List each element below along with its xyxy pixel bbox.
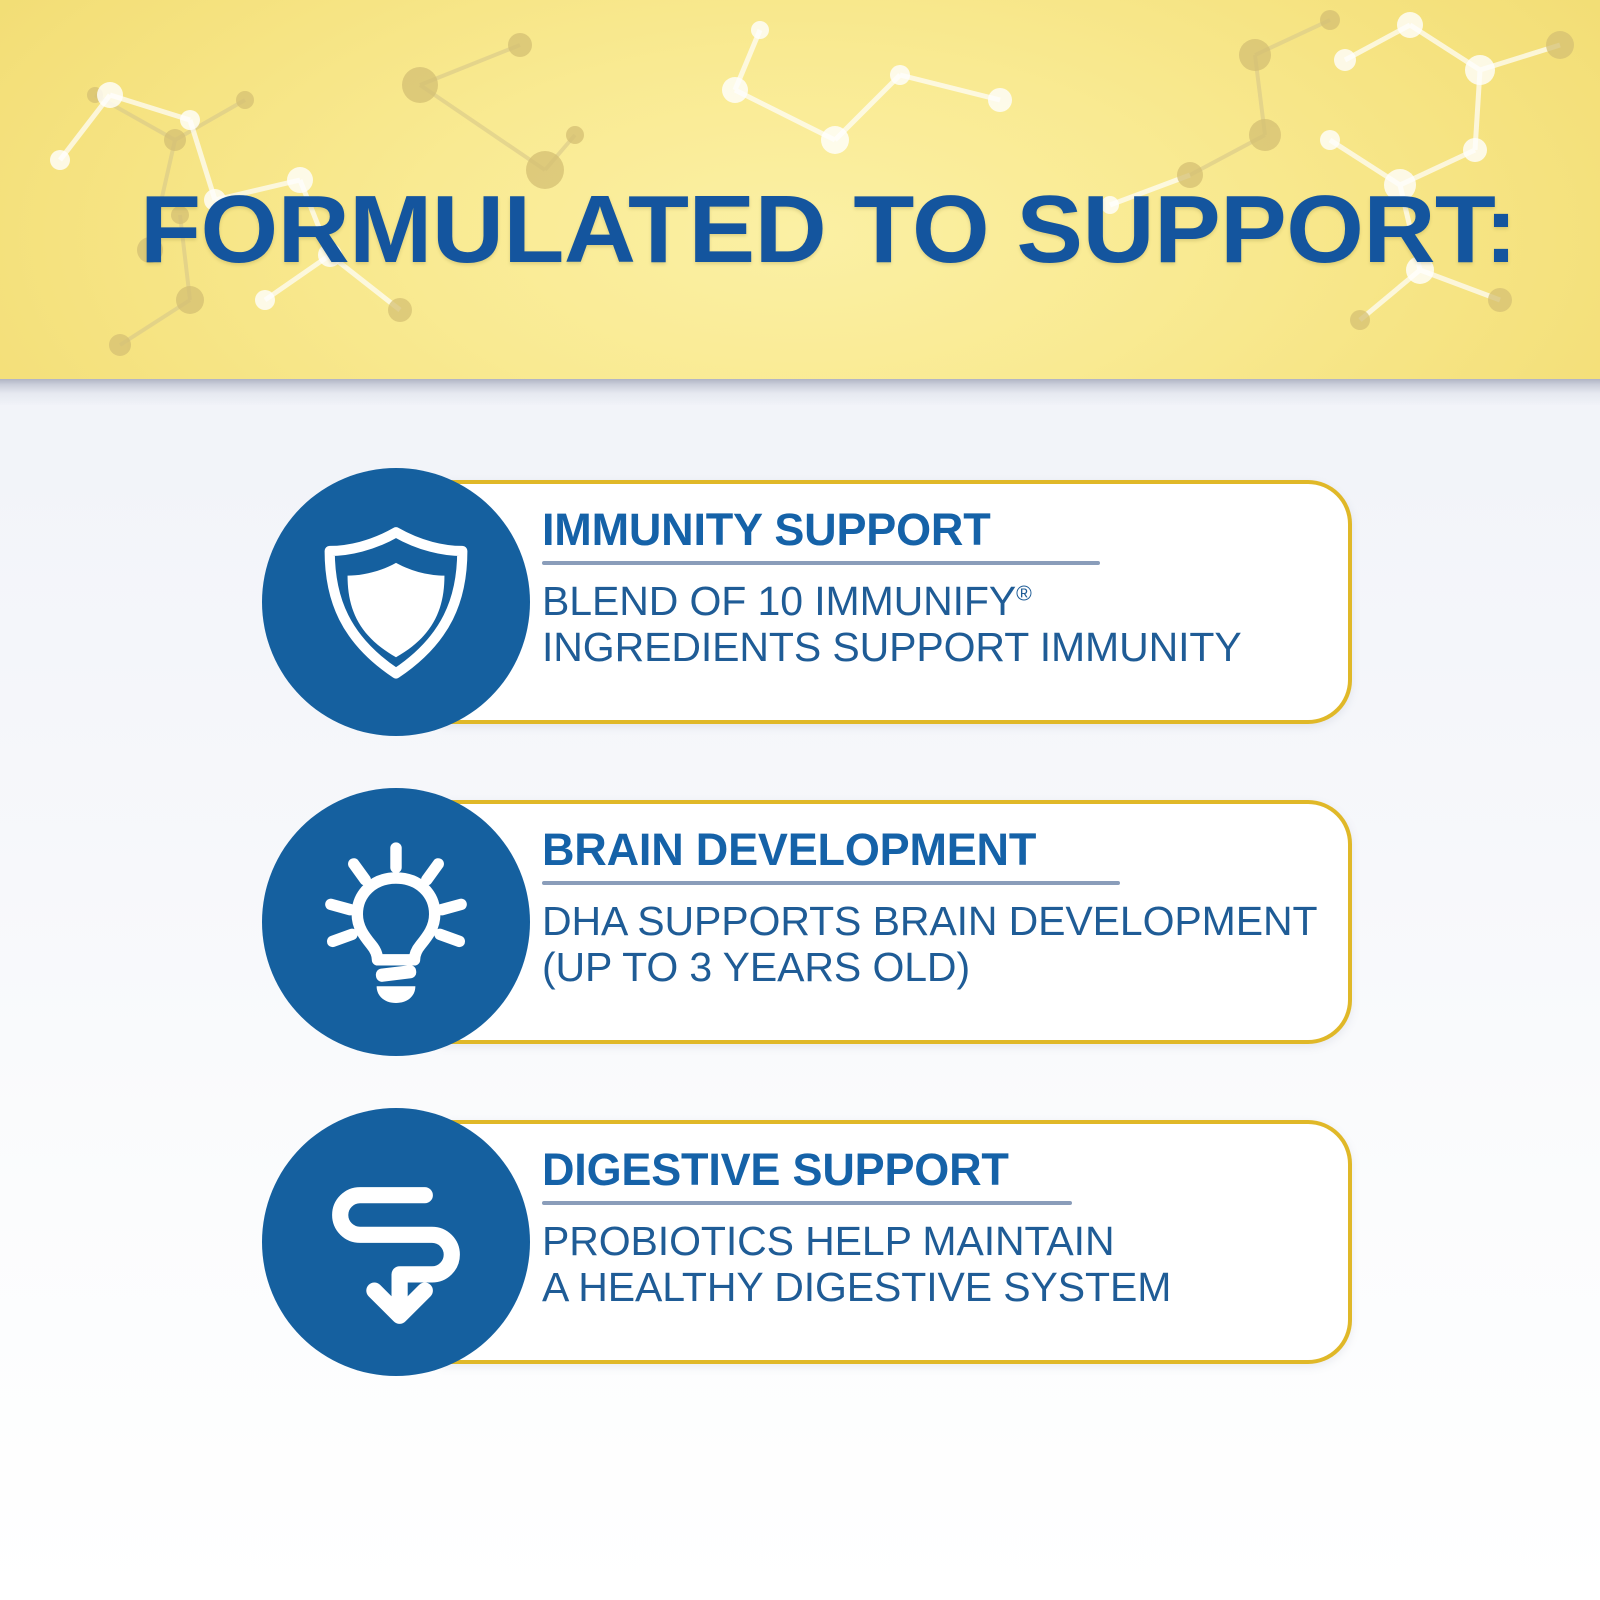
header-banner: FORMULATED TO SUPPORT: [0, 0, 1600, 379]
registered-trademark-icon: ® [1016, 581, 1032, 605]
card-description: BLEND OF 10 IMMUNIFY® INGREDIENTS SUPPOR… [542, 579, 1342, 671]
card-title-rule [542, 1201, 1072, 1205]
infographic-page: FORMULATED TO SUPPORT: IMMUNITY SUPPORT … [0, 0, 1600, 1600]
card-description-line-1: PROBIOTICS HELP MAINTAIN [542, 1218, 1114, 1264]
feature-card-brain[interactable]: BRAIN DEVELOPMENT DHA SUPPORTS BRAIN DEV… [262, 788, 1352, 1056]
card-text: DIGESTIVE SUPPORT PROBIOTICS HELP MAINTA… [542, 1146, 1342, 1311]
card-text: BRAIN DEVELOPMENT DHA SUPPORTS BRAIN DEV… [542, 826, 1342, 991]
card-title-rule [542, 561, 1100, 565]
lightbulb-icon [262, 788, 530, 1056]
feature-card-list: IMMUNITY SUPPORT BLEND OF 10 IMMUNIFY® I… [0, 405, 1600, 1600]
intestine-icon [262, 1108, 530, 1376]
shield-icon [262, 468, 530, 736]
card-description-line-2: INGREDIENTS SUPPORT IMMUNITY [542, 624, 1242, 670]
card-description-line-2: A HEALTHY DIGESTIVE SYSTEM [542, 1264, 1171, 1310]
card-description: PROBIOTICS HELP MAINTAIN A HEALTHY DIGES… [542, 1219, 1342, 1311]
card-text: IMMUNITY SUPPORT BLEND OF 10 IMMUNIFY® I… [542, 506, 1342, 671]
card-description-line-1: BLEND OF 10 IMMUNIFY [542, 578, 1016, 624]
card-title: BRAIN DEVELOPMENT [542, 826, 1342, 874]
card-title: IMMUNITY SUPPORT [542, 506, 1342, 554]
page-title: FORMULATED TO SUPPORT: [140, 182, 1534, 278]
card-description: DHA SUPPORTS BRAIN DEVELOPMENT (UP TO 3 … [542, 899, 1342, 991]
shield-icon-glyph [311, 517, 481, 687]
card-title-rule [542, 881, 1120, 885]
banner-shadow-divider [0, 379, 1600, 405]
feature-card-immunity[interactable]: IMMUNITY SUPPORT BLEND OF 10 IMMUNIFY® I… [262, 468, 1352, 736]
card-description-line-2: (UP TO 3 YEARS OLD) [542, 944, 970, 990]
intestine-icon-glyph [306, 1152, 486, 1332]
card-title: DIGESTIVE SUPPORT [542, 1146, 1342, 1194]
card-description-line-1: DHA SUPPORTS BRAIN DEVELOPMENT [542, 898, 1317, 944]
lightbulb-icon-glyph [308, 834, 484, 1010]
feature-card-digestive[interactable]: DIGESTIVE SUPPORT PROBIOTICS HELP MAINTA… [262, 1108, 1352, 1376]
